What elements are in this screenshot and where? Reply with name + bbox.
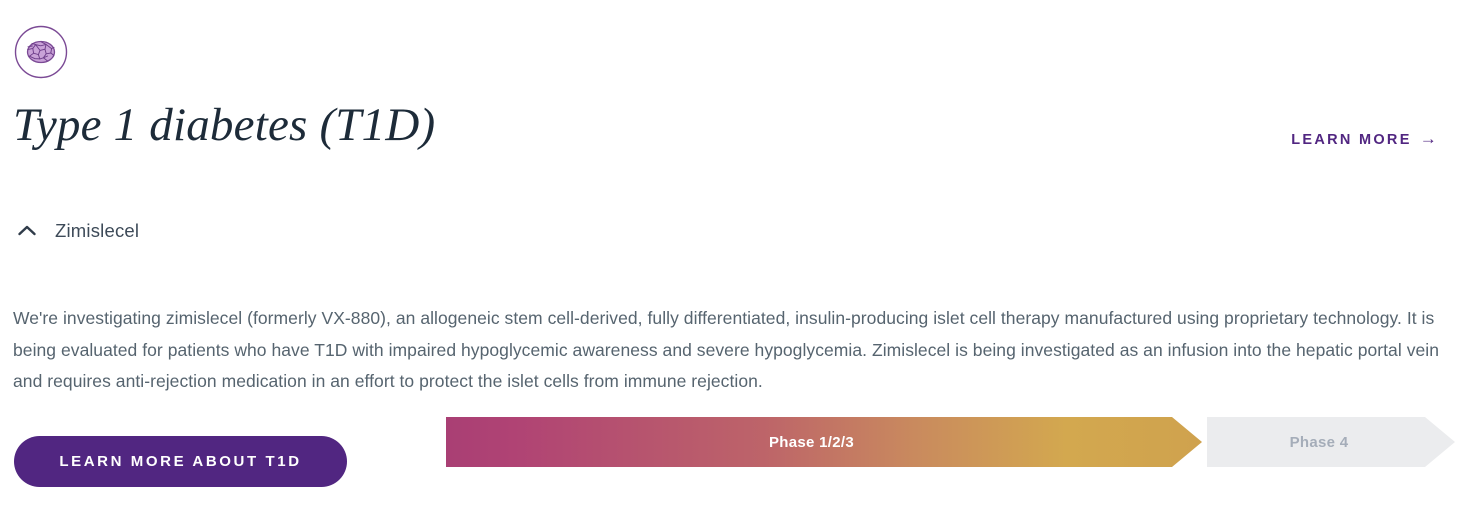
phase-progress-bar: Phase 1/2/3 Phase 4 bbox=[446, 417, 1455, 467]
phase-segment-active[interactable]: Phase 1/2/3 bbox=[446, 417, 1202, 467]
phase-segment-label: Phase 4 bbox=[1290, 434, 1349, 451]
learn-more-label: Learn more bbox=[1291, 132, 1411, 148]
learn-more-about-t1d-button[interactable]: Learn more about T1D bbox=[14, 436, 347, 487]
disease-program-card: Type 1 diabetes (T1D) Learn more → Zimis… bbox=[0, 0, 1461, 505]
page-title: Type 1 diabetes (T1D) bbox=[13, 96, 435, 154]
accordion-toggle-zimislecel[interactable]: Zimislecel bbox=[16, 220, 139, 242]
learn-more-link[interactable]: Learn more → bbox=[1291, 131, 1439, 148]
accordion-label: Zimislecel bbox=[55, 220, 139, 242]
phase-segment-label: Phase 1/2/3 bbox=[769, 434, 854, 451]
arrow-right-icon: → bbox=[1420, 130, 1439, 147]
program-row: Zimislecel Phase 1/2/3 Phase 4 bbox=[0, 205, 1461, 275]
islet-cell-icon bbox=[14, 25, 68, 79]
chevron-up-icon bbox=[16, 220, 38, 242]
program-description: We're investigating zimislecel (formerly… bbox=[13, 303, 1441, 398]
phase-segment-inactive[interactable]: Phase 4 bbox=[1207, 417, 1455, 467]
